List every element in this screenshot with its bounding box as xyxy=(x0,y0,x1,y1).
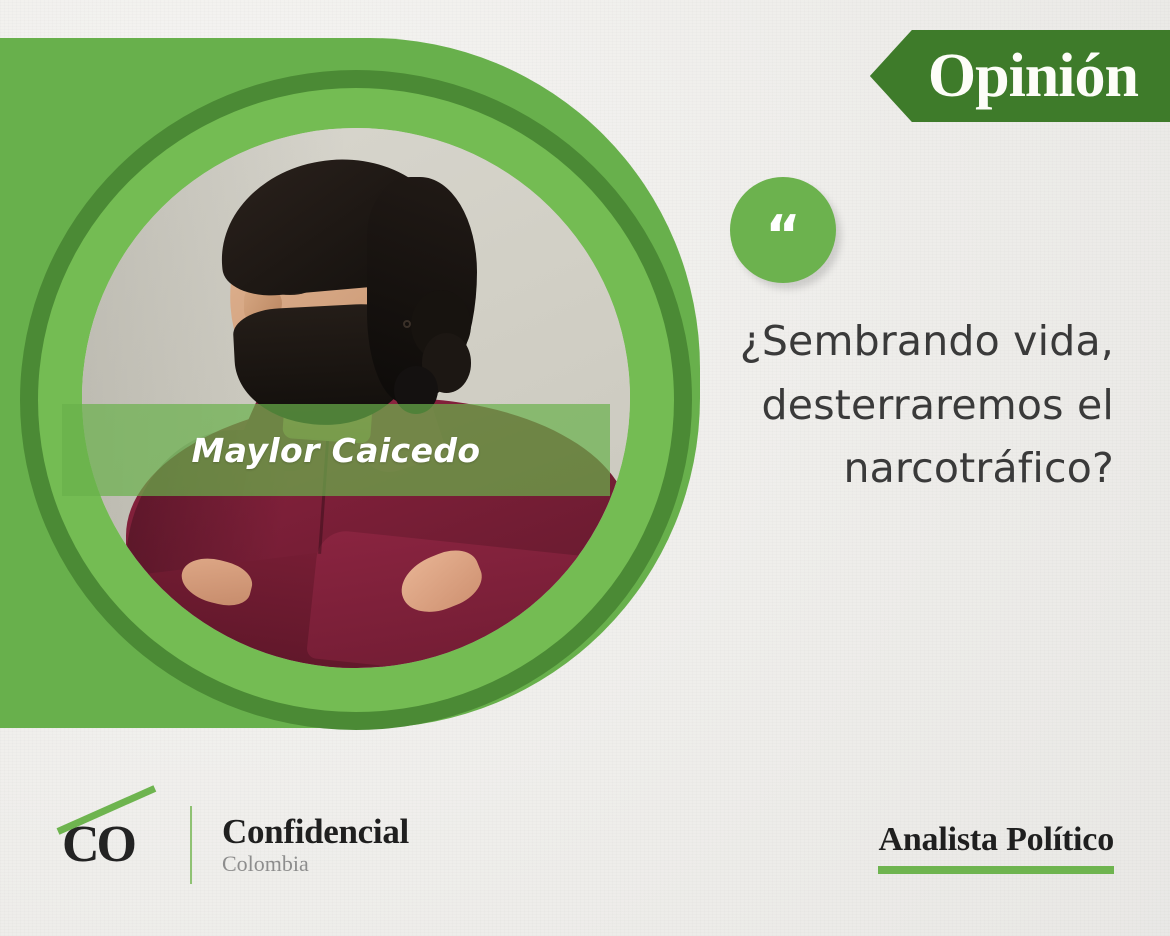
author-role-underline xyxy=(878,866,1114,874)
brand-divider xyxy=(190,806,192,884)
author-name-band: Maylor Caicedo xyxy=(62,404,610,496)
brand-title: Confidencial xyxy=(222,814,409,851)
author-role-block: Analista Político xyxy=(878,821,1114,874)
brand-subtitle: Colombia xyxy=(222,852,409,876)
author-name-label: Maylor Caicedo xyxy=(192,431,481,470)
headline-line-3: narcotráfico? xyxy=(574,437,1114,501)
photo-earring xyxy=(403,320,411,328)
opinion-banner-label: Opinión xyxy=(928,45,1138,107)
headline-line-2: desterraremos el xyxy=(574,374,1114,438)
portrait-photo xyxy=(82,128,630,668)
co-monogram-icon: CO xyxy=(62,812,166,878)
quote-badge: “ xyxy=(730,177,836,283)
headline: ¿Sembrando vida, desterraremos el narcot… xyxy=(574,310,1114,501)
author-role-label: Analista Político xyxy=(878,821,1114,859)
brand-names: Confidencial Colombia xyxy=(222,814,409,876)
opinion-banner: Opinión xyxy=(870,30,1170,122)
headline-line-1: ¿Sembrando vida, xyxy=(574,310,1114,374)
brand-lockup: CO Confidencial Colombia xyxy=(62,806,409,884)
